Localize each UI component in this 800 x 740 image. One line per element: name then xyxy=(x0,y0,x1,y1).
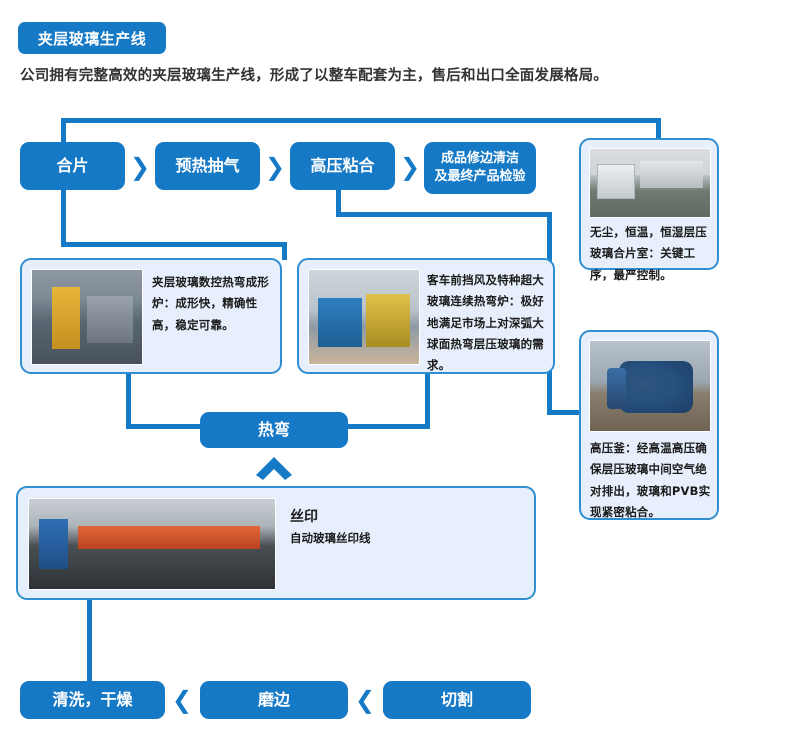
card-bending-furnace: 夹层玻璃数控热弯成形炉：成形快，精确性高，稳定可靠。 xyxy=(20,258,282,374)
photo-scene xyxy=(309,270,419,364)
page-title-badge: 夹层玻璃生产线 xyxy=(18,22,166,54)
process-box-edging[interactable]: 磨边 xyxy=(200,681,348,719)
process-box-highpressure-bond[interactable]: 高压粘合 xyxy=(290,142,395,190)
process-label-line1: 成品修边清洁 xyxy=(441,150,519,168)
process-box-wash-dry[interactable]: 清洗，干燥 xyxy=(20,681,165,719)
photo-autoclave xyxy=(589,340,711,432)
connector-leftcard-to-rebend xyxy=(126,424,206,429)
card-caption: 夹层玻璃数控热弯成形炉：成形快，精确性高，稳定可靠。 xyxy=(152,272,276,336)
connector-top-horizontal xyxy=(61,118,661,123)
process-label-line2: 及最终产品检验 xyxy=(434,168,525,186)
process-box-hepian[interactable]: 合片 xyxy=(20,142,125,190)
arrow-right-1: ❯ xyxy=(130,155,150,179)
silkscreen-subtitle: 自动玻璃丝印线 xyxy=(290,530,371,546)
diagram-canvas: 夹层玻璃生产线 公司拥有完整高效的夹层玻璃生产线，形成了以整车配套为主，售后和出… xyxy=(0,0,800,740)
process-label: 磨边 xyxy=(258,689,290,711)
connector-gaoya-horizontal xyxy=(336,212,552,217)
card-caption: 客车前挡风及特种超大玻璃连续热弯炉：极好地满足市场上对深弧大球面热弯层压玻璃的需… xyxy=(427,270,549,376)
arrow-up-icon xyxy=(255,455,293,481)
connector-midcard-to-rebend xyxy=(345,424,430,429)
connector-autoclave-in xyxy=(547,410,579,415)
photo-scene xyxy=(590,149,710,217)
connector-lower-horizontal xyxy=(61,242,287,247)
connector-midcard-down xyxy=(425,373,430,429)
arrow-left-2: ❮ xyxy=(355,688,375,712)
card-continuous-furnace: 客车前挡风及特种超大玻璃连续热弯炉：极好地满足市场上对深弧大球面热弯层压玻璃的需… xyxy=(297,258,555,374)
card-caption: 无尘，恒温，恒湿层压玻璃合片室：关键工序，最严控制。 xyxy=(590,222,712,286)
process-label: 高压粘合 xyxy=(310,155,374,177)
card-cleanroom: 无尘，恒温，恒湿层压玻璃合片室：关键工序，最严控制。 xyxy=(579,138,719,270)
page-title: 夹层玻璃生产线 xyxy=(38,28,147,49)
connector-silkscreen-down xyxy=(87,600,92,692)
photo-scene xyxy=(590,341,710,431)
photo-scene xyxy=(32,270,142,364)
photo-continuous-furnace xyxy=(308,269,420,365)
photo-cleanroom xyxy=(589,148,711,218)
card-silkscreen: 丝印 自动玻璃丝印线 xyxy=(16,486,536,600)
intro-paragraph: 公司拥有完整高效的夹层玻璃生产线，形成了以整车配套为主，售后和出口全面发展格局。 xyxy=(20,64,780,85)
process-box-cutting[interactable]: 切割 xyxy=(383,681,531,719)
process-box-preheat[interactable]: 预热抽气 xyxy=(155,142,260,190)
arrow-left-1: ❮ xyxy=(172,688,192,712)
process-label: 切割 xyxy=(441,689,473,711)
photo-silkscreen xyxy=(28,498,276,590)
card-autoclave: 高压釜：经高温高压确保层压玻璃中间空气绝对排出，玻璃和PVB实现紧密粘合。 xyxy=(579,330,719,520)
arrow-right-2: ❯ xyxy=(265,155,285,179)
process-label: 合片 xyxy=(56,155,88,177)
process-label: 清洗，干燥 xyxy=(52,689,132,711)
connector-leftcard-down xyxy=(126,373,131,429)
card-caption: 高压釜：经高温高压确保层压玻璃中间空气绝对排出，玻璃和PVB实现紧密粘合。 xyxy=(590,438,714,523)
silkscreen-title: 丝印 xyxy=(290,506,318,526)
connector-hepian-down xyxy=(61,190,66,246)
connector-mid-card-down xyxy=(282,242,287,260)
process-label: 预热抽气 xyxy=(175,155,239,177)
photo-scene xyxy=(29,499,275,589)
photo-bending-furnace xyxy=(31,269,143,365)
process-label: 热弯 xyxy=(258,419,290,441)
process-box-final-inspection[interactable]: 成品修边清洁 及最终产品检验 xyxy=(424,142,536,194)
process-box-hot-bending[interactable]: 热弯 xyxy=(200,412,348,448)
arrow-right-3: ❯ xyxy=(400,155,420,179)
